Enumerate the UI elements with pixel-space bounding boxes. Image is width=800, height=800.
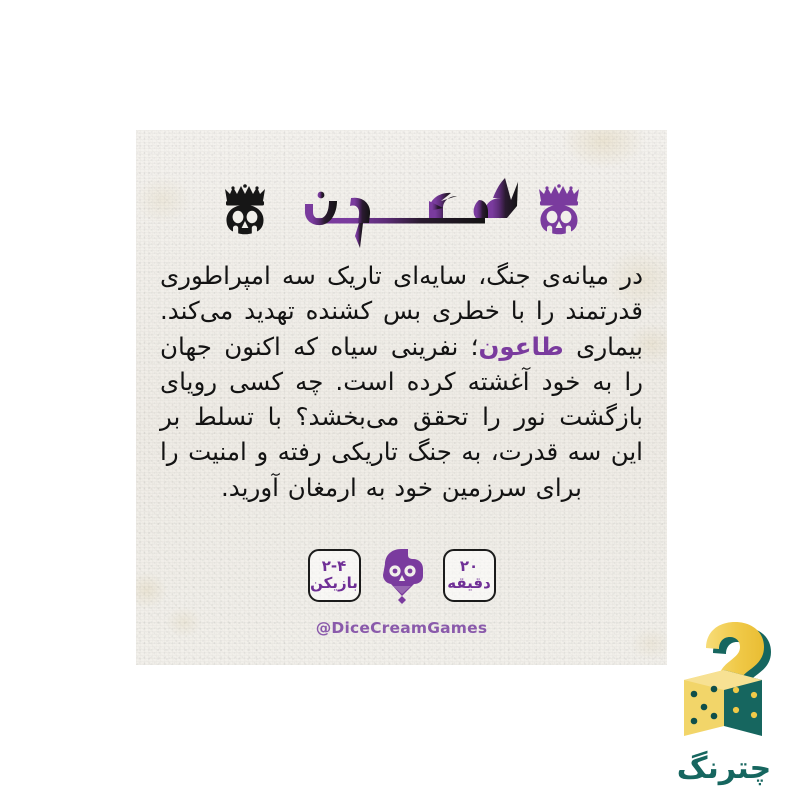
dicecream-mascot-icon xyxy=(379,546,425,604)
body-highlight-word: طاعون xyxy=(478,332,563,361)
duration-label: دقیقه xyxy=(447,576,491,592)
card-badges: ۲-۴ بازیکن xyxy=(136,543,667,607)
page-title xyxy=(279,168,525,254)
publisher-logo[interactable]: چترنگ xyxy=(648,618,800,788)
players-count: ۲-۴ xyxy=(322,559,347,575)
players-label: بازیکن xyxy=(310,576,358,592)
publisher-name: چترنگ xyxy=(648,751,800,786)
page-root: در میانه‌ی جنگ، سایه‌ای تاریک سه امپراطو… xyxy=(0,0,800,800)
crowned-skull-purple-icon xyxy=(533,183,585,239)
duration-badge: ۲۰ دقیقه xyxy=(443,549,496,602)
players-badge: ۲-۴ بازیکن xyxy=(308,549,361,602)
social-handle[interactable]: @DiceCreamGames xyxy=(136,619,667,637)
duration-count: ۲۰ xyxy=(460,559,478,575)
die-icon xyxy=(684,670,762,736)
card-title-row xyxy=(136,168,667,254)
game-card: در میانه‌ی جنگ، سایه‌ای تاریک سه امپراطو… xyxy=(136,130,667,665)
card-body-text: در میانه‌ی جنگ، سایه‌ای تاریک سه امپراطو… xyxy=(160,258,643,505)
crowned-skull-black-icon xyxy=(219,183,271,239)
